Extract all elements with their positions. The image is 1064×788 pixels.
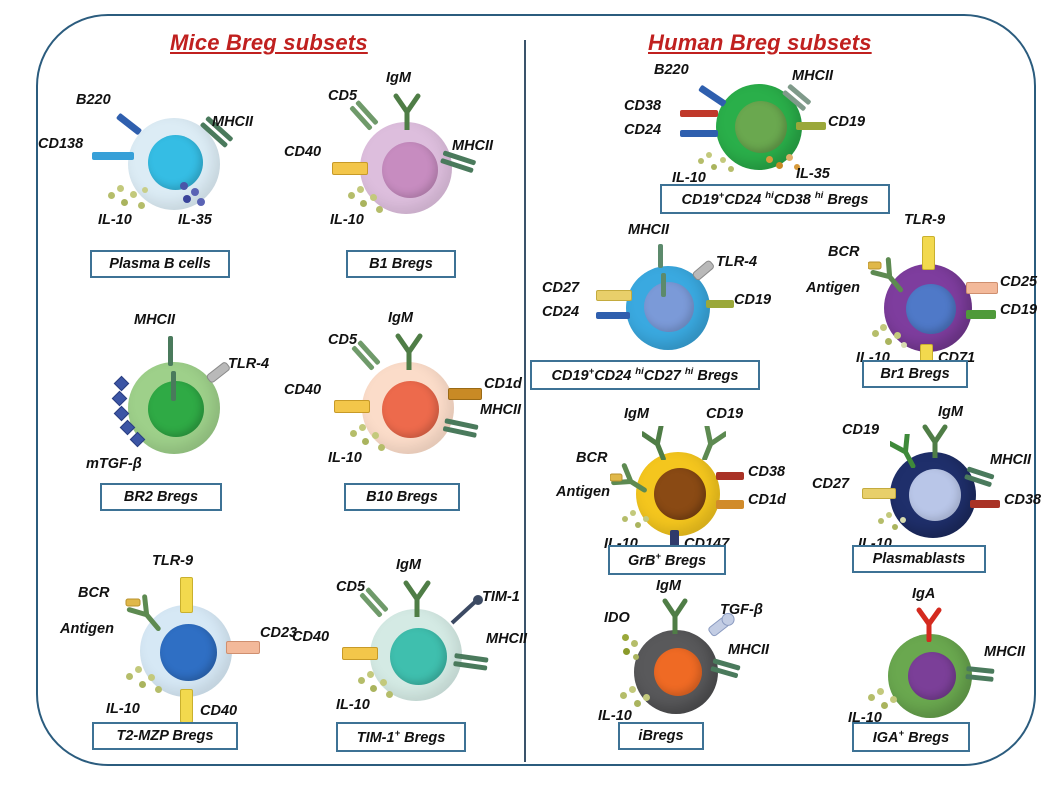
namebox-h1-a: CD19 xyxy=(682,192,719,208)
panel-divider xyxy=(524,40,526,762)
label-mhcii: MHCII xyxy=(990,452,1031,468)
label-cd24: CD24 xyxy=(624,122,661,138)
label-tgfb: TGF-β xyxy=(720,602,763,618)
marker-igm xyxy=(660,598,690,634)
namebox-iga-tail: Bregs xyxy=(904,730,949,746)
human-panel-title: Human Breg subsets xyxy=(648,30,872,56)
label-cd5: CD5 xyxy=(328,332,357,348)
marker-igm xyxy=(920,424,950,458)
label-cd38: CD38 xyxy=(1004,492,1041,508)
marker-cd24 xyxy=(596,312,630,319)
cell-nucleus xyxy=(654,468,706,520)
label-bcr: BCR xyxy=(78,585,109,601)
label-cd19: CD19 xyxy=(1000,302,1037,318)
label-cd19: CD19 xyxy=(842,422,879,438)
marker-cd23 xyxy=(226,641,260,654)
label-cd40: CD40 xyxy=(284,144,321,160)
label-igm: IgM xyxy=(624,406,649,422)
label-igm: IgM xyxy=(656,578,681,594)
label-cd38: CD38 xyxy=(624,98,661,114)
label-mhcii: MHCII xyxy=(134,312,175,328)
marker-mhcii xyxy=(658,244,666,302)
label-bcr: BCR xyxy=(576,450,607,466)
namebox-h2-tail: Bregs xyxy=(693,368,738,384)
marker-cd19 xyxy=(890,434,920,468)
label-mhcii: MHCII xyxy=(486,631,527,647)
marker-cd27 xyxy=(596,290,632,301)
namebox-tim1-base: TIM-1 xyxy=(357,730,395,746)
label-igm: IgM xyxy=(386,70,411,86)
label-cd40: CD40 xyxy=(292,629,329,645)
label-mhcii: MHCII xyxy=(212,114,253,130)
marker-cd19-igm xyxy=(696,426,726,460)
marker-igm xyxy=(400,579,434,617)
namebox-h2-a: CD19 xyxy=(552,368,589,384)
label-mhcii: MHCII xyxy=(480,402,521,418)
marker-bcr xyxy=(124,593,168,635)
marker-tlr9 xyxy=(922,236,935,270)
marker-cd1d xyxy=(448,388,482,400)
label-igm: IgM xyxy=(396,557,421,573)
label-cd1d: CD1d xyxy=(748,492,786,508)
namebox-h1-tail: Bregs xyxy=(823,192,868,208)
label-antigen: Antigen xyxy=(806,280,860,296)
marker-cd38 xyxy=(716,472,744,480)
marker-cd40 xyxy=(332,162,368,175)
namebox-plasmablasts: Plasmablasts xyxy=(852,545,986,573)
marker-tlr9 xyxy=(180,577,193,613)
namebox-b10-bregs: B10 Bregs xyxy=(344,483,460,511)
label-mhcii: MHCII xyxy=(452,138,493,154)
namebox-iga-bregs: IGA+ Bregs xyxy=(852,722,970,752)
marker-igm xyxy=(390,92,424,130)
cell-nucleus xyxy=(909,469,961,521)
label-igm: IgM xyxy=(388,310,413,326)
marker-cd19 xyxy=(706,300,734,308)
cell-nucleus xyxy=(908,652,956,700)
label-cd40: CD40 xyxy=(200,703,237,719)
label-cd5: CD5 xyxy=(336,579,365,595)
cell-nucleus xyxy=(382,142,438,198)
marker-cd19 xyxy=(966,310,996,319)
marker-bcr xyxy=(868,256,910,296)
namebox-grb-base: GrB xyxy=(628,553,655,569)
namebox-iga-base: IGA xyxy=(873,730,899,746)
label-iga: IgA xyxy=(912,586,935,602)
marker-cd40 xyxy=(334,400,370,413)
marker-cd38 xyxy=(680,110,718,117)
label-il10: IL-10 xyxy=(106,701,140,717)
cell-nucleus xyxy=(148,381,204,437)
label-tlr9: TLR-9 xyxy=(904,212,945,228)
label-cd19: CD19 xyxy=(734,292,771,308)
namebox-h2-b: CD24 xyxy=(594,368,635,384)
namebox-tim1-bregs: TIM-1+ Bregs xyxy=(336,722,466,752)
namebox-br1-bregs: Br1 Bregs xyxy=(862,360,968,388)
namebox-h1-c: CD38 xyxy=(774,192,815,208)
marker-cd19 xyxy=(796,122,826,130)
cell-body xyxy=(362,362,454,454)
marker-cd38 xyxy=(970,500,1000,508)
cell-nucleus xyxy=(735,101,787,153)
label-bcr: BCR xyxy=(828,244,859,260)
label-b220: B220 xyxy=(654,62,689,78)
label-antigen: Antigen xyxy=(60,621,114,637)
marker-cd40 xyxy=(342,647,378,660)
cell-nucleus xyxy=(906,284,956,334)
marker-cd138 xyxy=(92,152,134,160)
label-il10: IL-10 xyxy=(328,450,362,466)
namebox-h1-b: CD24 xyxy=(724,192,765,208)
marker-cd27 xyxy=(862,488,896,499)
label-cd40: CD40 xyxy=(284,382,321,398)
marker-mhcii xyxy=(168,336,176,406)
diagram-root: Mice Breg subsets Human Breg subsets B22… xyxy=(0,0,1064,788)
namebox-h2-sup2: hi xyxy=(635,366,643,377)
namebox-grb-bregs: GrB+ Bregs xyxy=(608,545,726,575)
namebox-tim1-tail: Bregs xyxy=(400,730,445,746)
namebox-cd19-cd24hi-cd27hi-bregs: CD19+CD24 hiCD27 hi Bregs xyxy=(530,360,760,390)
cell-nucleus xyxy=(644,282,694,332)
label-cd138: CD138 xyxy=(38,136,83,152)
label-ido: IDO xyxy=(604,610,630,626)
marker-igm xyxy=(642,426,672,460)
namebox-t2-mzp-bregs: T2-MZP Bregs xyxy=(92,722,238,750)
namebox-h1-sup2: hi xyxy=(765,190,773,201)
marker-iga xyxy=(914,606,944,642)
label-tim1: TIM-1 xyxy=(482,589,520,605)
namebox-plasma-b-cells: Plasma B cells xyxy=(90,250,230,278)
label-mtgfb: mTGF-β xyxy=(86,456,142,472)
label-il35: IL-35 xyxy=(796,166,830,182)
label-mhcii: MHCII xyxy=(628,222,669,238)
label-il35: IL-35 xyxy=(178,212,212,228)
label-igm: IgM xyxy=(938,404,963,420)
cell-nucleus xyxy=(160,624,217,681)
label-mhcii: MHCII xyxy=(984,644,1025,660)
label-il10: IL-10 xyxy=(330,212,364,228)
label-cd27: CD27 xyxy=(812,476,849,492)
label-cd27: CD27 xyxy=(542,280,579,296)
label-tlr4: TLR-4 xyxy=(716,254,757,270)
namebox-b1-bregs: B1 Bregs xyxy=(346,250,456,278)
namebox-h2-c: CD27 xyxy=(644,368,685,384)
label-il10: IL-10 xyxy=(98,212,132,228)
marker-cd1d xyxy=(716,500,744,509)
marker-igm xyxy=(392,332,426,370)
cell-nucleus xyxy=(390,628,447,685)
label-mhcii: MHCII xyxy=(728,642,769,658)
label-b220: B220 xyxy=(76,92,111,108)
cell-body xyxy=(888,634,972,718)
label-cd1d: CD1d xyxy=(484,376,522,392)
label-cd5: CD5 xyxy=(328,88,357,104)
marker-cd40 xyxy=(180,689,193,723)
cell-nucleus xyxy=(654,648,702,696)
namebox-br2-bregs: BR2 Bregs xyxy=(100,483,222,511)
label-cd25: CD25 xyxy=(1000,274,1037,290)
label-cd38: CD38 xyxy=(748,464,785,480)
label-cd19: CD19 xyxy=(706,406,743,422)
cell-nucleus xyxy=(382,381,439,438)
label-il10: IL-10 xyxy=(336,697,370,713)
label-cd24: CD24 xyxy=(542,304,579,320)
namebox-grb-tail: Bregs xyxy=(661,553,706,569)
label-mhcii: MHCII xyxy=(792,68,833,84)
label-cd19: CD19 xyxy=(828,114,865,130)
marker-cd24 xyxy=(680,130,718,137)
namebox-ibregs: iBregs xyxy=(618,722,704,750)
namebox-cd19-cd24hi-cd38hi-bregs: CD19+CD24 hiCD38 hi Bregs xyxy=(660,184,890,214)
mice-panel-title: Mice Breg subsets xyxy=(170,30,368,56)
marker-mhcii xyxy=(965,666,994,682)
label-antigen: Antigen xyxy=(556,484,610,500)
cell-nucleus xyxy=(148,135,203,190)
marker-cd25 xyxy=(966,282,998,294)
label-tlr9: TLR-9 xyxy=(152,553,193,569)
marker-bcr xyxy=(610,462,650,500)
label-tlr4: TLR-4 xyxy=(228,356,269,372)
